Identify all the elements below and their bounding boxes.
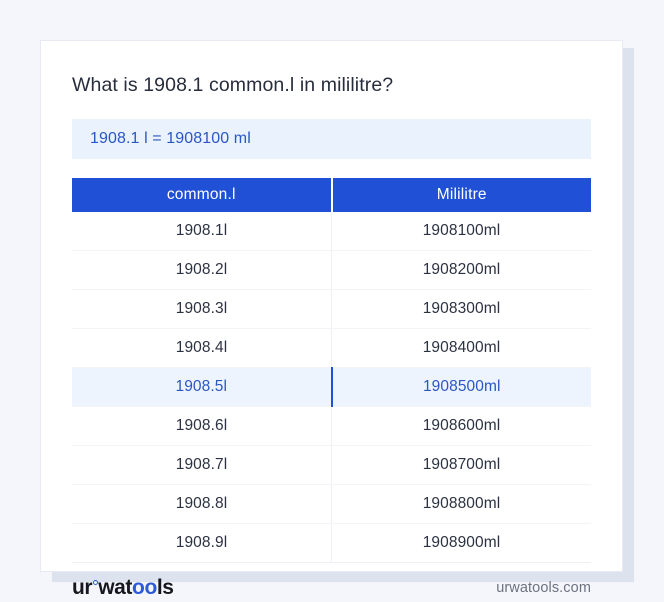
cell-to: 1908300ml [332,290,592,329]
page-root: What is 1908.1 common.l in mililitre? 19… [0,0,664,602]
table-row[interactable]: 1908.1l 1908100ml [72,212,591,251]
table-header-row: common.l Mililitre [72,178,591,212]
table-row-highlighted[interactable]: 1908.5l 1908500ml [72,368,591,407]
cell-to: 1908200ml [332,251,592,290]
cell-from: 1908.7l [72,446,332,485]
site-url-label: urwatools.com [496,580,591,596]
logo-text-part1: ur [72,577,92,598]
logo-text-part2: wat [98,577,132,598]
cell-from: 1908.6l [72,407,332,446]
cell-to: 1908400ml [332,329,592,368]
page-title: What is 1908.1 common.l in mililitre? [72,41,591,98]
table-header: common.l Mililitre [72,178,591,212]
column-header-common-l: common.l [72,178,332,212]
conversion-result-text: 1908.1 l = 1908100 ml [90,130,251,148]
table-row[interactable]: 1908.6l 1908600ml [72,407,591,446]
cell-to: 1908900ml [332,524,592,563]
cell-from: 1908.2l [72,251,332,290]
urwatools-logo[interactable]: urwatools [72,577,174,598]
column-header-mililitre: Mililitre [332,178,592,212]
logo-text-accent: oo [132,577,157,598]
conversion-table: common.l Mililitre 1908.1l 1908100ml 190… [72,178,591,563]
table-row[interactable]: 1908.9l 1908900ml [72,524,591,563]
table-row[interactable]: 1908.4l 1908400ml [72,329,591,368]
table-row[interactable]: 1908.2l 1908200ml [72,251,591,290]
conversion-result-banner: 1908.1 l = 1908100 ml [72,119,591,159]
cell-from: 1908.8l [72,485,332,524]
card-footer: urwatools urwatools.com [72,577,591,598]
cell-to: 1908500ml [332,368,592,407]
logo-circle-accent-icon [93,580,98,585]
cell-to: 1908700ml [332,446,592,485]
conversion-card: What is 1908.1 common.l in mililitre? 19… [40,40,623,572]
cell-from: 1908.1l [72,212,332,251]
cell-from: 1908.3l [72,290,332,329]
table-row[interactable]: 1908.8l 1908800ml [72,485,591,524]
table-body: 1908.1l 1908100ml 1908.2l 1908200ml 1908… [72,212,591,563]
table-row[interactable]: 1908.7l 1908700ml [72,446,591,485]
cell-to: 1908100ml [332,212,592,251]
cell-to: 1908800ml [332,485,592,524]
logo-text-part4: ls [157,577,174,598]
table-row[interactable]: 1908.3l 1908300ml [72,290,591,329]
cell-from: 1908.4l [72,329,332,368]
cell-to: 1908600ml [332,407,592,446]
cell-from: 1908.9l [72,524,332,563]
cell-from: 1908.5l [72,368,332,407]
